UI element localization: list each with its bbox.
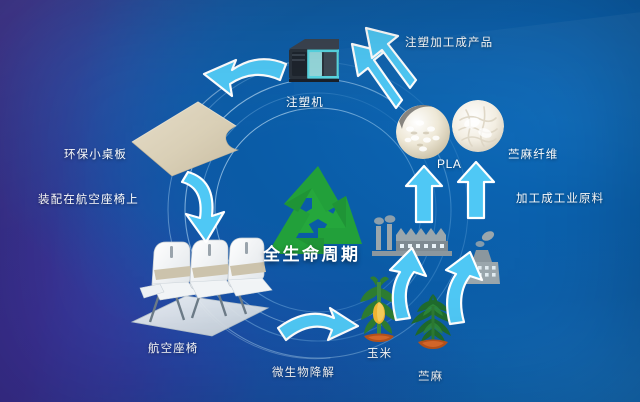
infographic-canvas: 环保小桌板 装配在航空座椅上 航空座椅 微生物降解 玉米 苎麻 加工成工业原料 … (0, 0, 640, 402)
vignette-overlay (0, 0, 640, 402)
